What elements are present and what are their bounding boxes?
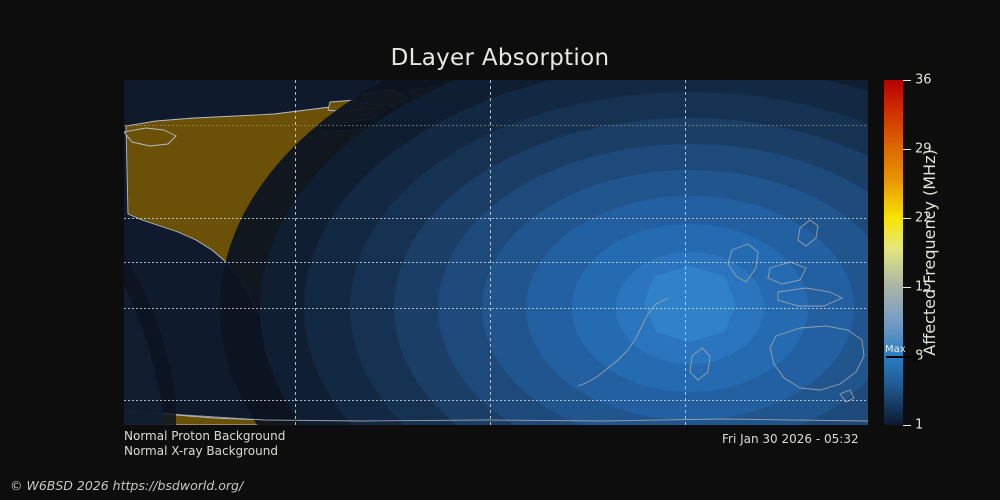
gridline-lon-90W [295,80,296,425]
max-marker-label: Max [885,344,906,355]
plot-root: DLayer Absorption [0,0,1000,500]
max-arrow-icon [886,356,914,358]
gridline-lat-66S [124,400,868,401]
xray-background-note: Normal X-ray Background [124,444,285,459]
proton-background-note: Normal Proton Background [124,429,285,444]
status-notes: Normal Proton Background Normal X-ray Ba… [124,429,285,459]
colorbar-tick-22 [903,218,911,219]
gridline-lon-0 [490,80,491,425]
colorbar-axis-label: Affected Frequency (MHz) [916,80,944,425]
world-map [124,80,868,425]
gridline-lon-90E [685,80,686,425]
gridline-lat-66N [124,125,868,126]
copyright-footer: © W6BSD 2026 https://bsdworld.org/ [10,478,243,493]
colorbar-tick-29 [903,149,911,150]
page-title: DLayer Absorption [0,45,1000,71]
timestamp: Fri Jan 30 2026 - 05:32 [722,432,859,446]
contour-peak [644,266,736,342]
colorbar-tick-36 [903,80,911,81]
absorption-contours [220,80,868,425]
gridline-lat-0 [124,262,868,263]
gridline-lat-23N [124,218,868,219]
gridline-lat-23S [124,308,868,309]
colorbar-tick-15 [903,287,911,288]
map-canvas [124,80,868,425]
colorbar-tick-1 [903,425,911,426]
